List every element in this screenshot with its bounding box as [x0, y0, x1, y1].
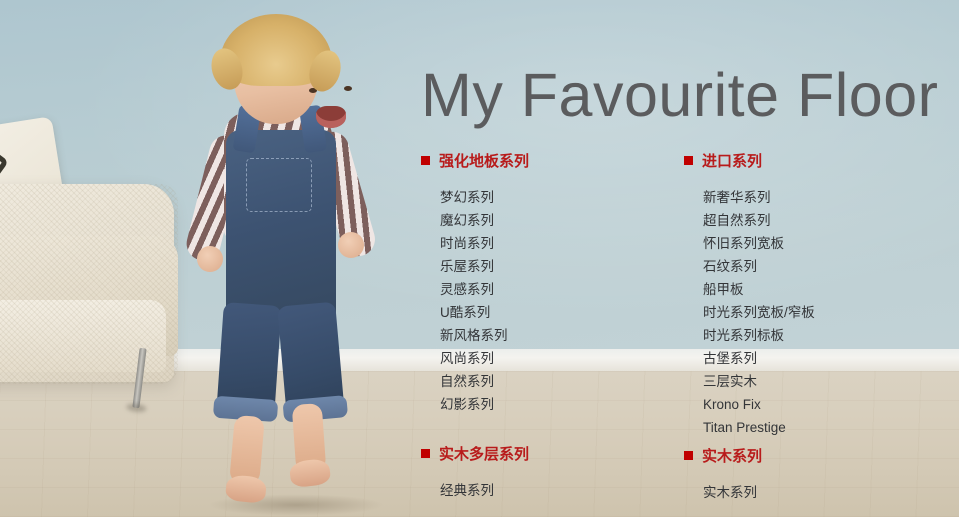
list-item[interactable]: 灵感系列	[440, 278, 671, 301]
page-title: My Favourite Floor	[421, 63, 938, 129]
category-group: 实木系列 实木系列	[684, 447, 934, 504]
list-item[interactable]: 实木系列	[703, 481, 934, 504]
toddler-legs	[220, 304, 344, 434]
list-item[interactable]: 时尚系列	[440, 232, 671, 255]
category-group: 实木多层系列 经典系列	[421, 445, 671, 502]
list-item[interactable]: 古堡系列	[703, 347, 934, 370]
list-item[interactable]: 石纹系列	[703, 255, 934, 278]
category-heading: 实木系列	[684, 447, 934, 467]
category-heading-label: 实木系列	[702, 448, 762, 465]
category-column-right: 进口系列 新奢华系列 超自然系列 怀旧系列宽板 石纹系列 船甲板 时光系列宽板/…	[684, 152, 934, 504]
list-item[interactable]: 幻影系列	[440, 393, 671, 416]
toddler-hair	[220, 14, 332, 86]
category-item-list: 实木系列	[703, 481, 934, 504]
list-item[interactable]: Krono Fix	[703, 393, 934, 416]
list-item[interactable]: 经典系列	[440, 479, 671, 502]
overall-bib-pocket	[246, 158, 312, 212]
category-heading: 强化地板系列	[421, 152, 671, 172]
sofa-fabric-texture	[0, 184, 178, 384]
toddler-denim-overalls	[226, 130, 336, 330]
list-item[interactable]: 三层实木	[703, 370, 934, 393]
list-item[interactable]: 时光系列宽板/窄板	[703, 301, 934, 324]
category-heading: 实木多层系列	[421, 445, 671, 465]
photo-edge-fade	[330, 0, 420, 517]
category-group: 进口系列 新奢华系列 超自然系列 怀旧系列宽板 石纹系列 船甲板 时光系列宽板/…	[684, 152, 934, 439]
bullet-square-icon	[684, 451, 693, 460]
list-item[interactable]: 新风格系列	[440, 324, 671, 347]
list-item[interactable]: 新奢华系列	[703, 186, 934, 209]
category-item-list: 经典系列	[440, 479, 671, 502]
list-item[interactable]: 怀旧系列宽板	[703, 232, 934, 255]
category-heading: 进口系列	[684, 152, 934, 172]
list-item[interactable]: 时光系列标板	[703, 324, 934, 347]
category-heading-label: 实木多层系列	[439, 446, 529, 463]
category-item-list: 新奢华系列 超自然系列 怀旧系列宽板 石纹系列 船甲板 时光系列宽板/窄板 时光…	[703, 186, 934, 439]
page-root: My Favourite Floor 强化地板系列 梦幻系列 魔幻系列 时尚系列…	[0, 0, 959, 517]
list-item[interactable]: 超自然系列	[703, 209, 934, 232]
category-heading-label: 强化地板系列	[439, 153, 529, 170]
bullet-square-icon	[421, 449, 430, 458]
hero-photo	[0, 0, 420, 517]
list-item[interactable]: 梦幻系列	[440, 186, 671, 209]
category-group: 强化地板系列 梦幻系列 魔幻系列 时尚系列 乐屋系列 灵感系列 U酷系列 新风格…	[421, 152, 671, 416]
category-column-left: 强化地板系列 梦幻系列 魔幻系列 时尚系列 乐屋系列 灵感系列 U酷系列 新风格…	[421, 152, 671, 502]
bullet-square-icon	[684, 156, 693, 165]
bullet-square-icon	[421, 156, 430, 165]
list-item[interactable]: Titan Prestige	[703, 416, 934, 439]
list-item[interactable]: 乐屋系列	[440, 255, 671, 278]
overall-leg	[216, 302, 282, 418]
toddler-hand	[197, 246, 223, 272]
category-heading-label: 进口系列	[702, 153, 762, 170]
list-item[interactable]: 风尚系列	[440, 347, 671, 370]
list-item[interactable]: U酷系列	[440, 301, 671, 324]
list-item[interactable]: 魔幻系列	[440, 209, 671, 232]
category-item-list: 梦幻系列 魔幻系列 时尚系列 乐屋系列 灵感系列 U酷系列 新风格系列 风尚系列…	[440, 186, 671, 416]
list-item[interactable]: 船甲板	[703, 278, 934, 301]
toddler-shin	[229, 415, 265, 485]
list-item[interactable]: 自然系列	[440, 370, 671, 393]
